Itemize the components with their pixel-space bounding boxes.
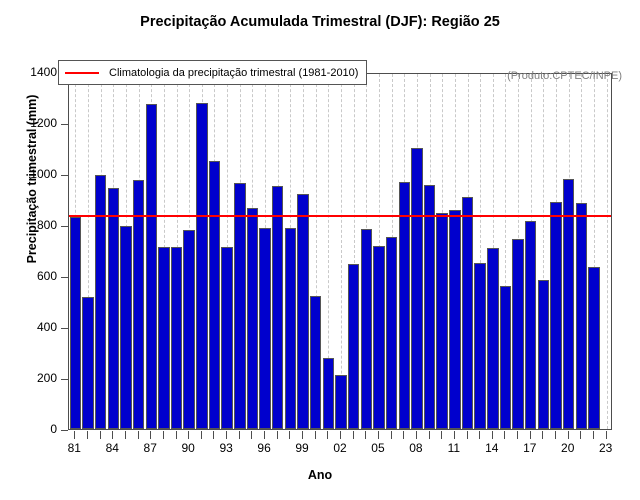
x-axis-tick [555, 431, 556, 439]
chart-title: Precipitação Acumulada Trimestral (DJF):… [0, 14, 640, 30]
x-axis-tick-label: 87 [135, 441, 165, 455]
legend-line-swatch [65, 72, 99, 74]
bar [234, 183, 245, 429]
x-axis-tick [150, 431, 151, 439]
x-axis-tick [568, 431, 569, 439]
bar [247, 208, 258, 429]
x-axis-tick [138, 431, 139, 439]
bar [133, 180, 144, 429]
legend-label: Climatologia da precipitação trimestral … [109, 67, 358, 79]
x-axis-tick [454, 431, 455, 439]
bar [512, 239, 523, 429]
x-axis-tick-label: 23 [591, 441, 621, 455]
x-axis-tick [517, 431, 518, 439]
x-axis-tick-label: 11 [439, 441, 469, 455]
x-axis-tick [416, 431, 417, 439]
x-axis-tick-label: 81 [59, 441, 89, 455]
y-axis-tick [61, 226, 68, 227]
bar [474, 263, 485, 429]
x-axis-tick [441, 431, 442, 439]
bar [120, 226, 131, 429]
bar [487, 248, 498, 429]
x-axis-tick [74, 431, 75, 439]
x-axis-tick-label: 84 [97, 441, 127, 455]
y-axis-tick [61, 124, 68, 125]
x-axis-tick [365, 431, 366, 439]
bar [500, 286, 511, 429]
x-axis-tick-label: 20 [553, 441, 583, 455]
x-axis-tick-label: 90 [173, 441, 203, 455]
x-axis-tick [593, 431, 594, 439]
bar [297, 194, 308, 429]
x-axis-tick [213, 431, 214, 439]
x-axis-tick [239, 431, 240, 439]
bar [183, 230, 194, 429]
bar [95, 175, 106, 429]
bar [348, 264, 359, 429]
x-axis-tick-label: 93 [211, 441, 241, 455]
bar [70, 217, 81, 429]
bar [285, 228, 296, 429]
x-axis-tick [353, 431, 354, 439]
y-axis-tick-label: 800 [37, 218, 57, 232]
bar [310, 296, 321, 429]
x-axis-tick [378, 431, 379, 439]
y-axis-tick-label: 200 [37, 371, 57, 385]
y-axis-tick [61, 175, 68, 176]
x-axis-tick [391, 431, 392, 439]
x-axis-tick [125, 431, 126, 439]
x-axis-tick [87, 431, 88, 439]
bar [259, 228, 270, 429]
x-axis-tick [530, 431, 531, 439]
bar [373, 246, 384, 429]
bar [82, 297, 93, 429]
x-axis-label: Ano [0, 468, 640, 482]
x-axis-tick [542, 431, 543, 439]
x-axis-tick [429, 431, 430, 439]
x-axis-tick [176, 431, 177, 439]
bar [462, 197, 473, 429]
bar [272, 186, 283, 429]
bar [411, 148, 422, 429]
producer-watermark: (Produto:CPTEC/INPE) [507, 70, 622, 82]
bar [424, 185, 435, 429]
y-axis-tick-label: 400 [37, 320, 57, 334]
x-axis-tick [163, 431, 164, 439]
y-axis-tick [61, 430, 68, 431]
plot-inner [69, 74, 611, 429]
x-axis-tick-label: 05 [363, 441, 393, 455]
x-axis-tick [264, 431, 265, 439]
bar [449, 210, 460, 429]
bar [436, 213, 447, 429]
y-axis-tick [61, 277, 68, 278]
x-axis-tick [226, 431, 227, 439]
y-axis-tick [61, 328, 68, 329]
bar [386, 237, 397, 429]
gridline [607, 74, 608, 429]
y-axis-label: Precipitação trimestral (mm) [25, 0, 39, 379]
x-axis-tick [100, 431, 101, 439]
x-axis-tick [403, 431, 404, 439]
bar [209, 161, 220, 430]
y-axis-tick-label: 0 [50, 422, 57, 436]
x-axis-tick [315, 431, 316, 439]
x-axis-tick-label: 17 [515, 441, 545, 455]
legend: Climatologia da precipitação trimestral … [58, 60, 367, 85]
bar [538, 280, 549, 429]
x-axis-tick [302, 431, 303, 439]
bar [158, 247, 169, 429]
bar [196, 103, 207, 429]
bar [399, 182, 410, 429]
bar [576, 203, 587, 429]
x-axis-tick [606, 431, 607, 439]
bar [588, 267, 599, 429]
x-axis-tick [289, 431, 290, 439]
x-axis-tick [340, 431, 341, 439]
bar [361, 229, 372, 429]
x-axis-tick [277, 431, 278, 439]
chart-page: Precipitação Acumulada Trimestral (DJF):… [0, 0, 640, 500]
x-axis-tick-label: 96 [249, 441, 279, 455]
bar [525, 221, 536, 429]
bar [550, 202, 561, 429]
plot-area [68, 73, 612, 430]
y-axis-tick [61, 379, 68, 380]
x-axis-tick [479, 431, 480, 439]
x-axis-tick [188, 431, 189, 439]
y-axis-tick-label: 600 [37, 269, 57, 283]
x-axis-tick [251, 431, 252, 439]
bar [323, 358, 334, 429]
x-axis-tick-label: 14 [477, 441, 507, 455]
x-axis-tick-label: 08 [401, 441, 431, 455]
bar [146, 104, 157, 429]
x-axis-tick [201, 431, 202, 439]
bar [221, 247, 232, 429]
x-axis-tick [467, 431, 468, 439]
x-axis-tick [580, 431, 581, 439]
x-axis-tick-label: 02 [325, 441, 355, 455]
x-axis-tick-label: 99 [287, 441, 317, 455]
x-axis-tick [327, 431, 328, 439]
climatology-line [69, 215, 611, 217]
bar [171, 247, 182, 429]
x-axis-tick [112, 431, 113, 439]
x-axis-tick [504, 431, 505, 439]
x-axis-tick [492, 431, 493, 439]
bar [335, 375, 346, 429]
bar [108, 188, 119, 429]
